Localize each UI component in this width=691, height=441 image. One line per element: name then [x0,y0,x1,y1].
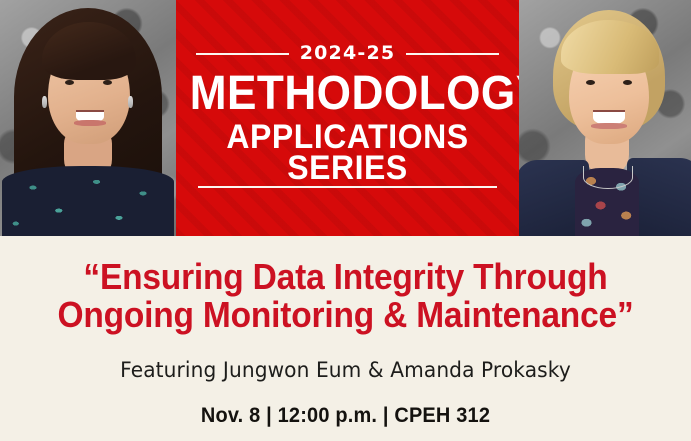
series-headline: METHODOLOGY APPLICATIONS SERIES [176,72,519,185]
eye-right [623,80,632,85]
jungwon-eum-headshot [0,0,176,236]
eye-left [586,80,595,85]
featuring-line: Featuring Jungwon Eum & Amanda Prokasky [14,358,677,382]
portrait-figure [519,0,691,236]
eye-left [65,80,74,85]
clothing [2,166,174,236]
earring-right [128,96,133,108]
lower-lip [74,120,106,126]
series-banner: 2024-25 METHODOLOGY APPLICATIONS SERIES [176,0,519,236]
series-headline-line1: METHODOLOGY [190,72,506,116]
eye-right [103,80,112,85]
earring-left [42,96,47,108]
event-details: Nov. 8 | 12:00 p.m. | CPEH 312 [17,404,673,428]
details-section: “Ensuring Data Integrity Through Ongoing… [0,236,691,441]
amanda-prokasky-headshot [519,0,691,236]
rule-bottom [198,186,497,188]
header-band: 2024-25 METHODOLOGY APPLICATIONS SERIES [0,0,691,236]
rule-left [196,53,289,55]
series-headline-line2: APPLICATIONS SERIES [186,122,508,185]
necklace [583,166,633,189]
portrait-figure [0,0,176,236]
talk-title: “Ensuring Data Integrity Through Ongoing… [39,258,652,334]
rule-right [406,53,499,55]
year-label: 2024-25 [300,44,396,63]
year-row: 2024-25 [196,44,499,63]
event-flyer: 2024-25 METHODOLOGY APPLICATIONS SERIES [0,0,691,441]
lower-lip [591,123,627,129]
